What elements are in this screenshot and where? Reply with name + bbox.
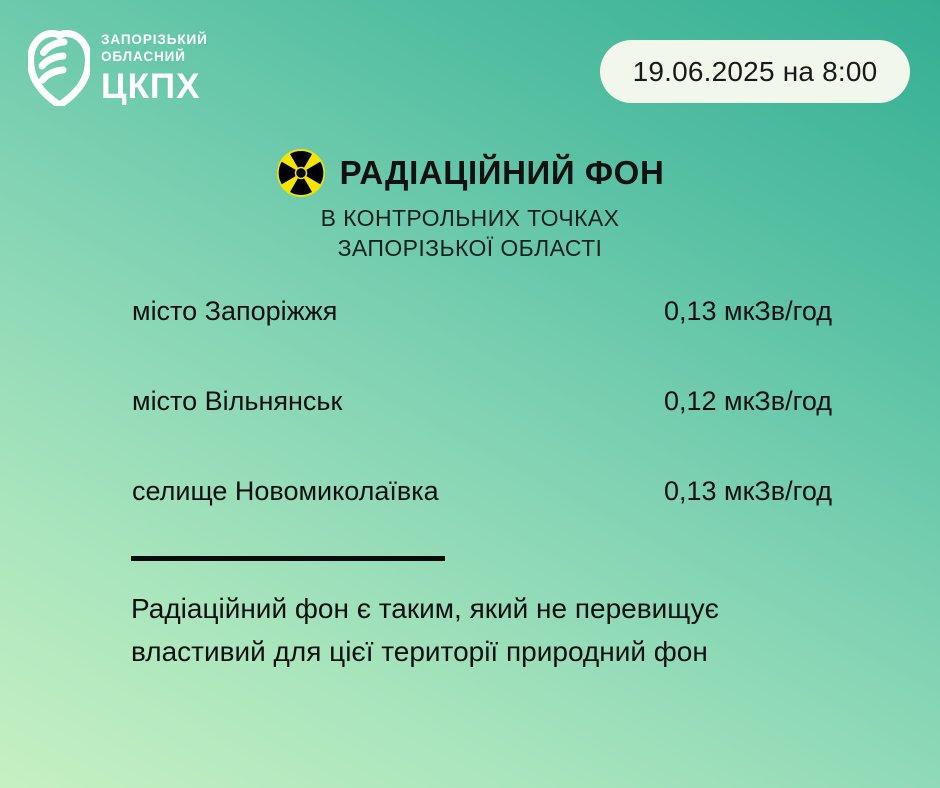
radiation-background-poster: ЗАПОРІЗЬКИЙ ОБЛАСНИЙ ЦКПХ 19.06.2025 на … bbox=[0, 0, 940, 788]
subtitle-line-1: В КОНТРОЛЬНИХ ТОЧКАХ bbox=[0, 204, 940, 234]
measurement-location: місто Вільнянськ bbox=[132, 386, 342, 417]
organization-brand: ЗАПОРІЗЬКИЙ ОБЛАСНИЙ ЦКПХ bbox=[28, 30, 208, 106]
date-badge-text: 19.06.2025 на 8:00 bbox=[633, 56, 878, 88]
poster-header: ЗАПОРІЗЬКИЙ ОБЛАСНИЙ ЦКПХ 19.06.2025 на … bbox=[0, 0, 940, 120]
page-title: РАДІАЦІЙНИЙ ФОН bbox=[340, 154, 665, 192]
measurement-row: місто Вільнянськ 0,12 мкЗв/год bbox=[132, 386, 832, 476]
shield-heart-logo-icon bbox=[28, 30, 90, 106]
footer-note: Радіаційний фон є таким, який не перевищ… bbox=[131, 588, 921, 673]
measurement-value: 0,13 мкЗв/год bbox=[664, 476, 832, 507]
measurement-location: місто Запоріжжя bbox=[132, 296, 337, 327]
footer-line-2: властивий для цієї території природний ф… bbox=[131, 631, 921, 674]
section-divider bbox=[131, 556, 445, 561]
brand-abbreviation: ЦКПХ bbox=[101, 69, 208, 106]
organization-name-block: ЗАПОРІЗЬКИЙ ОБЛАСНИЙ ЦКПХ bbox=[101, 30, 208, 105]
date-badge: 19.06.2025 на 8:00 bbox=[600, 40, 910, 103]
page-subtitle: В КОНТРОЛЬНИХ ТОЧКАХ ЗАПОРІЗЬКОЇ ОБЛАСТІ bbox=[0, 204, 940, 264]
title-row: РАДІАЦІЙНИЙ ФОН bbox=[0, 146, 940, 200]
title-block: РАДІАЦІЙНИЙ ФОН В КОНТРОЛЬНИХ ТОЧКАХ ЗАП… bbox=[0, 146, 940, 264]
brand-line-1: ЗАПОРІЗЬКИЙ bbox=[101, 32, 208, 49]
measurement-value: 0,12 мкЗв/год bbox=[664, 386, 832, 417]
measurement-location: селище Новомиколаївка bbox=[132, 476, 439, 507]
radiation-hazard-icon bbox=[276, 148, 326, 198]
subtitle-line-2: ЗАПОРІЗЬКОЇ ОБЛАСТІ bbox=[0, 234, 940, 264]
brand-line-2: ОБЛАСНИЙ bbox=[101, 49, 208, 66]
measurement-row: селище Новомиколаївка 0,13 мкЗв/год bbox=[132, 476, 832, 566]
footer-line-1: Радіаційний фон є таким, який не перевищ… bbox=[131, 588, 921, 631]
measurement-list: місто Запоріжжя 0,13 мкЗв/год місто Віль… bbox=[132, 296, 832, 566]
measurement-row: місто Запоріжжя 0,13 мкЗв/год bbox=[132, 296, 832, 386]
measurement-value: 0,13 мкЗв/год bbox=[664, 296, 832, 327]
